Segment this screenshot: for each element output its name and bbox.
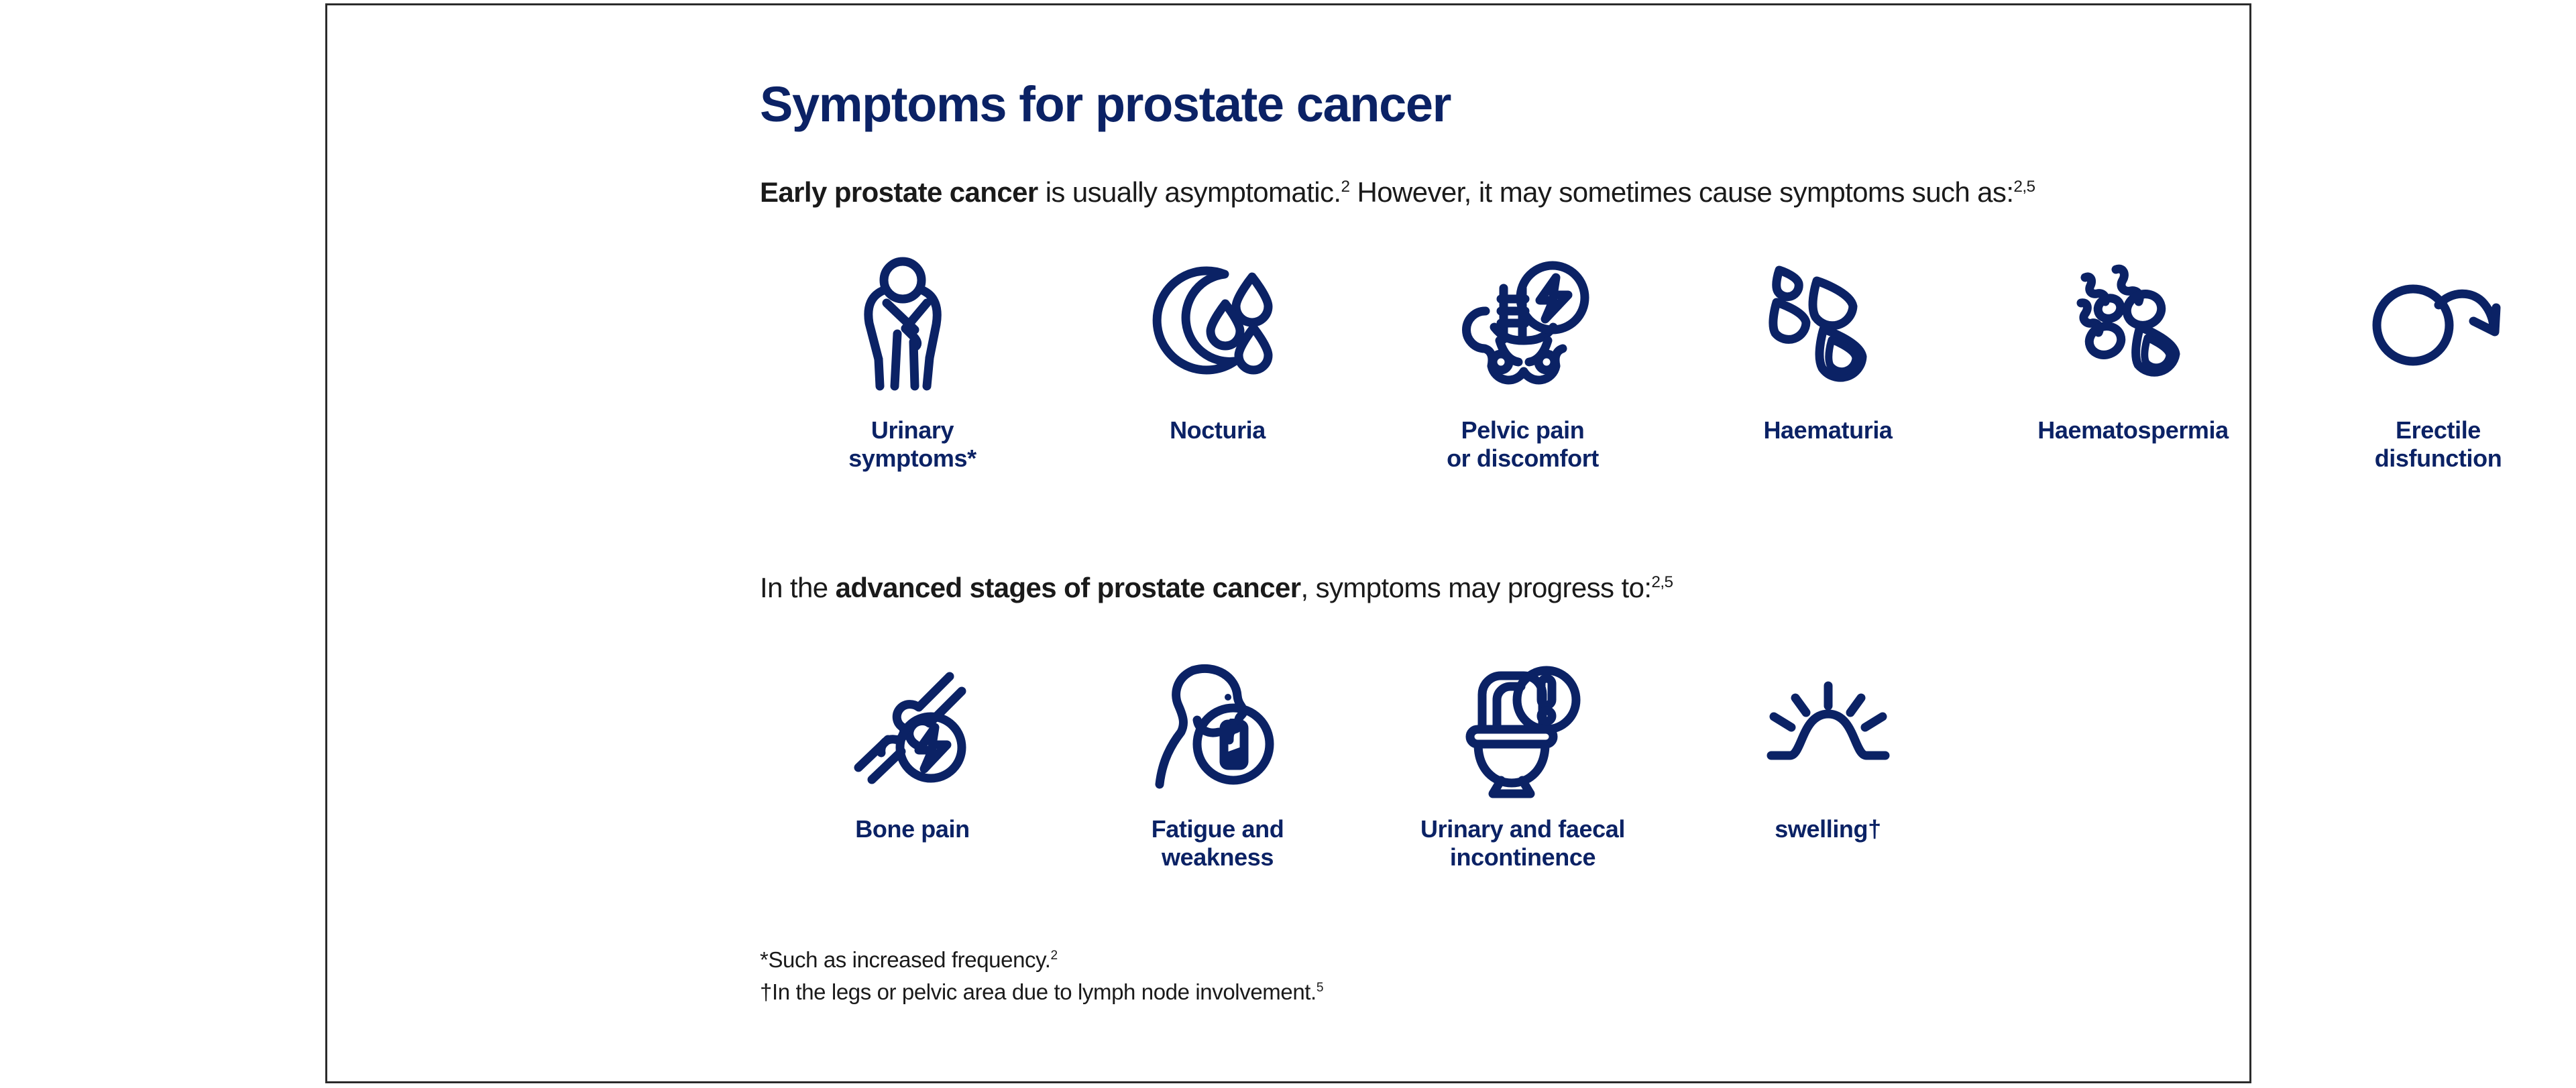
page-title: Symptoms for prostate cancer bbox=[760, 76, 1451, 133]
advanced-lead: In the bbox=[760, 572, 836, 603]
hunched-person-icon bbox=[836, 253, 990, 398]
male-symbol-drooping-arrow-icon bbox=[2361, 253, 2516, 398]
symptom-label: Fatigue and weakness bbox=[1152, 815, 1284, 872]
intro-sup-1: 2 bbox=[1341, 178, 1349, 196]
symptom-card-urinary-symptoms: Urinary symptoms* bbox=[760, 253, 1065, 473]
footnote-line-1: *Such as increased frequency.2 bbox=[760, 944, 1323, 976]
symptom-label: Haematuria bbox=[1763, 416, 1892, 444]
symptom-card-swelling: swelling† bbox=[1675, 652, 1980, 843]
pelvis-lightning-icon bbox=[1446, 253, 1600, 398]
bones-lightning-icon bbox=[836, 652, 990, 796]
symptom-label: Urinary and faecal incontinence bbox=[1420, 815, 1625, 872]
advanced-sup: 2,5 bbox=[1651, 573, 1673, 591]
symptom-card-haematuria: Haematuria bbox=[1675, 253, 1980, 444]
footnote-1-text: *Such as increased frequency. bbox=[760, 947, 1051, 972]
symptom-label-line2: disfunction bbox=[2375, 444, 2502, 473]
symptom-label-line1: Erectile bbox=[2375, 416, 2502, 444]
swelling-bump-icon bbox=[1751, 652, 1905, 796]
crescent-moon-droplets-icon bbox=[1141, 253, 1295, 398]
symptom-label: Bone pain bbox=[855, 815, 969, 843]
symptom-label: Pelvic pain or discomfort bbox=[1447, 416, 1599, 473]
footnote-2-text: †In the legs or pelvic area due to lymph… bbox=[760, 979, 1317, 1004]
symptom-label-line2: weakness bbox=[1152, 843, 1284, 871]
symptom-label-line1: Nocturia bbox=[1170, 416, 1266, 444]
intro-sup-2: 2,5 bbox=[2013, 178, 2035, 196]
symptom-label-line1: Bone pain bbox=[855, 815, 969, 843]
footnote-line-2: †In the legs or pelvic area due to lymph… bbox=[760, 976, 1323, 1008]
footnotes: *Such as increased frequency.2 †In the l… bbox=[760, 944, 1323, 1008]
symptom-card-erectile-disfunction: Erectile disfunction bbox=[2286, 253, 2576, 473]
content-frame: Symptoms for prostate cancer Early prost… bbox=[325, 3, 2251, 1083]
advanced-symptoms-row: Bone pain bbox=[760, 652, 1980, 872]
symptom-label-line1: Haematuria bbox=[1763, 416, 1892, 444]
intro-text-2: However, it may sometimes cause symptoms… bbox=[1349, 176, 2013, 208]
symptom-card-nocturia: Nocturia bbox=[1065, 253, 1370, 444]
symptom-label-line2: incontinence bbox=[1420, 843, 1625, 871]
symptom-label-line1: swelling† bbox=[1775, 815, 1881, 843]
intro-paragraph: Early prostate cancer is usually asympto… bbox=[760, 176, 2035, 208]
footnote-2-sup: 5 bbox=[1317, 981, 1323, 995]
advanced-rest: , symptoms may progress to: bbox=[1300, 572, 1651, 603]
symptom-label-line1: Urinary and faecal bbox=[1420, 815, 1625, 843]
infographic-page: Symptoms for prostate cancer Early prost… bbox=[0, 0, 2576, 1088]
symptom-card-incontinence: Urinary and faecal incontinence bbox=[1370, 652, 1675, 872]
symptom-card-bone-pain: Bone pain bbox=[760, 652, 1065, 843]
symptom-label: Haematospermia bbox=[2037, 416, 2229, 444]
symptom-label-line1: Fatigue and bbox=[1152, 815, 1284, 843]
symptom-label: Nocturia bbox=[1170, 416, 1266, 444]
head-low-battery-icon bbox=[1141, 652, 1295, 796]
advanced-stages-paragraph: In the advanced stages of prostate cance… bbox=[760, 572, 1673, 604]
symptom-label: Urinary symptoms* bbox=[848, 416, 976, 473]
early-symptoms-row: Urinary symptoms* bbox=[760, 253, 2576, 473]
footnote-1-sup: 2 bbox=[1051, 949, 1058, 963]
symptom-label-line1: Pelvic pain bbox=[1447, 416, 1599, 444]
symptom-label-line2: or discomfort bbox=[1447, 444, 1599, 473]
symptom-label: Erectile disfunction bbox=[2375, 416, 2502, 473]
content-inner: Symptoms for prostate cancer Early prost… bbox=[760, 5, 2571, 1081]
symptom-card-fatigue-weakness: Fatigue and weakness bbox=[1065, 652, 1370, 872]
symptom-label: swelling† bbox=[1775, 815, 1881, 843]
symptom-label-line1: Urinary bbox=[848, 416, 976, 444]
blood-drops-icon bbox=[1751, 253, 1905, 398]
intro-text-1: is usually asymptomatic. bbox=[1038, 176, 1341, 208]
symptom-card-haematospermia: Haematospermia bbox=[1980, 253, 2286, 444]
symptom-label-line2: symptoms* bbox=[848, 444, 976, 473]
symptom-label-line1: Haematospermia bbox=[2037, 416, 2229, 444]
symptom-card-pelvic-pain: Pelvic pain or discomfort bbox=[1370, 253, 1675, 473]
intro-bold-lead: Early prostate cancer bbox=[760, 176, 1038, 208]
sperm-blood-drop-icon bbox=[2056, 253, 2210, 398]
advanced-bold: advanced stages of prostate cancer bbox=[836, 572, 1301, 603]
toilet-alert-icon bbox=[1446, 652, 1600, 796]
